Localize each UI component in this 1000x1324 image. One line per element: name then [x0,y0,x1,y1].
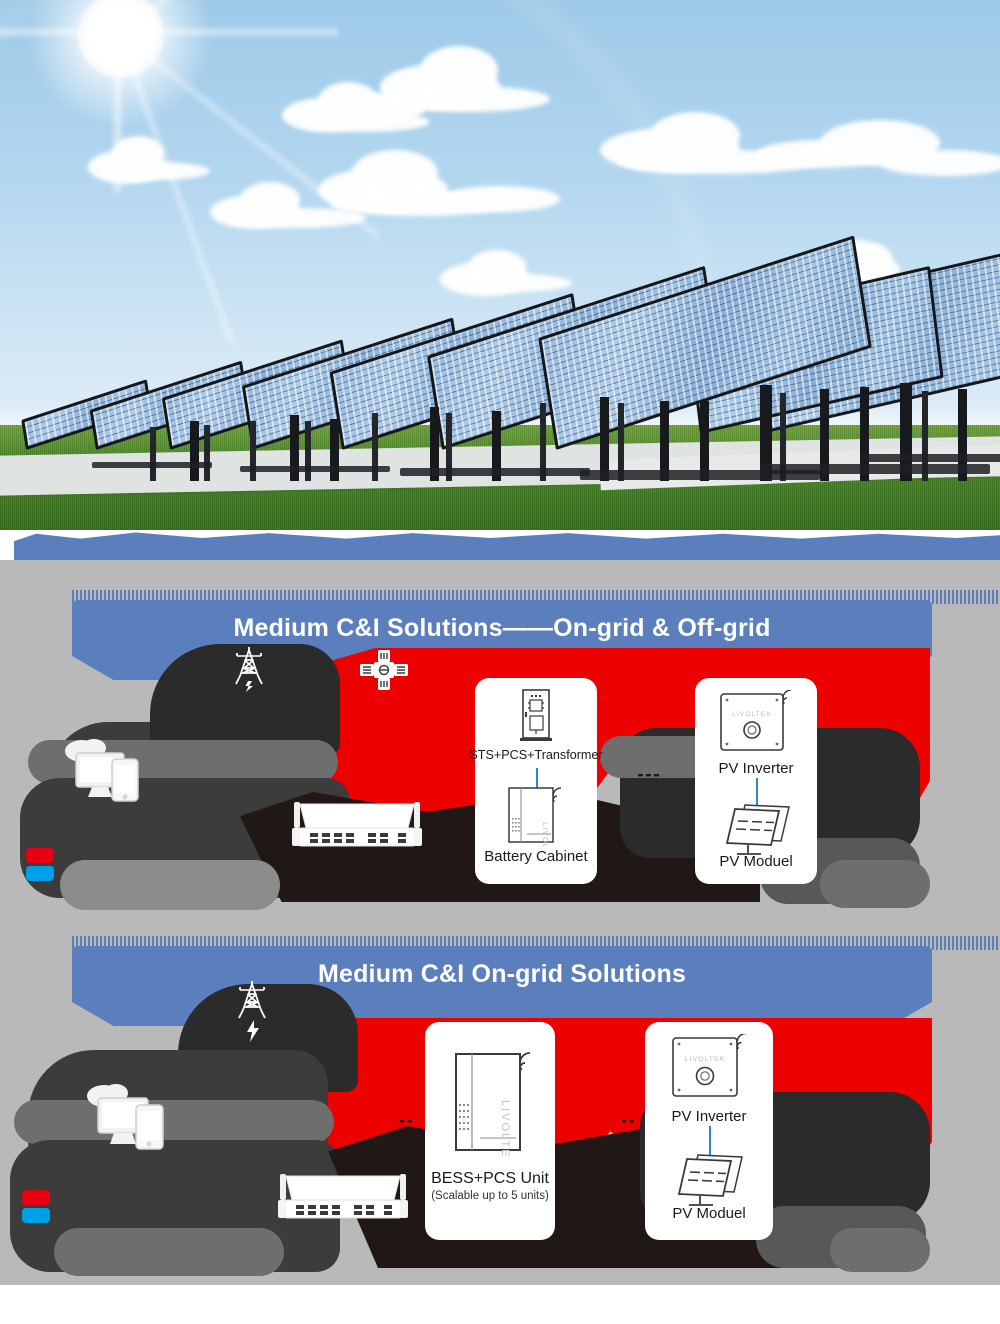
panel-2-connector-dots-right [622,1118,642,1124]
pv-inverter-icon: LIVOLTEK [669,1034,749,1104]
footer-whitespace [0,1285,1000,1324]
panel-2-banner: Medium C&I On-grid Solutions [72,946,932,1002]
monitor-and-phone-icon [82,1080,174,1152]
panel-2-bess-card[interactable]: LIVOLTEK BESS+PCS Unit (Scalable up to 5… [425,1022,555,1240]
legend-swatch-red [26,848,54,863]
panel-1-terrain-base-left [60,860,280,910]
panel-2-terrain-base-far-right [830,1228,930,1272]
pv-module-icon [719,801,793,859]
svg-text:LIVOLTEK: LIVOLTEK [499,1100,511,1156]
panel-2-legend-swatches [22,1190,50,1223]
legend-swatch-blue [22,1208,50,1223]
panel-2-legend [22,1190,56,1223]
page-root: Medium C&I Solutions——On-grid & Off-grid [0,0,1000,1324]
panel-1-card-label-battery: Battery Cabinet [484,848,587,865]
panel-2-terrain-left-band [14,1100,334,1144]
panel-2-card-label-bess: BESS+PCS Unit [431,1170,549,1188]
panel-2-connector-dots-left [400,1118,420,1124]
transmission-tower-icon [232,646,266,692]
panel-1-card-label-sts: STS+PCS+Transformer [469,748,602,762]
panel-1-legend [26,848,60,881]
panel-2-card-label-inverter: PV Inverter [671,1108,746,1125]
panel-1-storage-card[interactable]: STS+PCS+Transformer LIVOLTEK [475,678,597,884]
bess-pcs-cabinet-icon: LIVOLTEK [448,1050,532,1156]
svg-text:LIVOLTEK: LIVOLTEK [732,711,772,718]
battery-cabinet-icon: LIVOLTEK [505,784,567,846]
panel-1-terrain-base-far-right [820,860,930,908]
panel-2-card-sublabel-bess: (Scalable up to 5 units) [431,1190,549,1202]
bolt-icon [245,1020,261,1042]
panel-2-title: Medium C&I On-grid Solutions [318,960,686,989]
pcs-cabinet-icon [517,688,555,744]
panel-1-card-label-inverter: PV Inverter [718,760,793,777]
svg-text:LIVOLTEK: LIVOLTEK [685,1056,726,1063]
network-switch-icon [278,1170,408,1226]
panel-1-connector-dots [638,772,668,778]
panel-2-terrain-base-left [54,1228,284,1276]
panel-medium-ci-on-off-grid: Medium C&I Solutions——On-grid & Off-grid [0,560,1000,932]
hero-solar-photo [0,0,1000,530]
pv-module-icon [670,1151,748,1211]
legend-swatch-red [22,1190,50,1205]
solar-panel-array [0,250,1000,480]
panel-2-pv-card[interactable]: LIVOLTEK PV Inverter [645,1022,773,1240]
panel-1-legend-swatches [26,848,54,881]
svg-text:LIVOLTEK: LIVOLTEK [541,822,550,846]
panel-1-pv-card[interactable]: LIVOLTEK PV Inverter [695,678,817,884]
pv-inverter-icon: LIVOLTEK [717,690,795,756]
network-switch-icon [292,798,422,854]
transformer-icon [358,646,410,694]
panel-medium-ci-on-grid: Medium C&I On-grid Solutions [0,932,1000,1285]
panel-1-title: Medium C&I Solutions——On-grid & Off-grid [233,614,770,643]
legend-swatch-blue [26,866,54,881]
monitor-and-phone-icon [60,735,150,805]
